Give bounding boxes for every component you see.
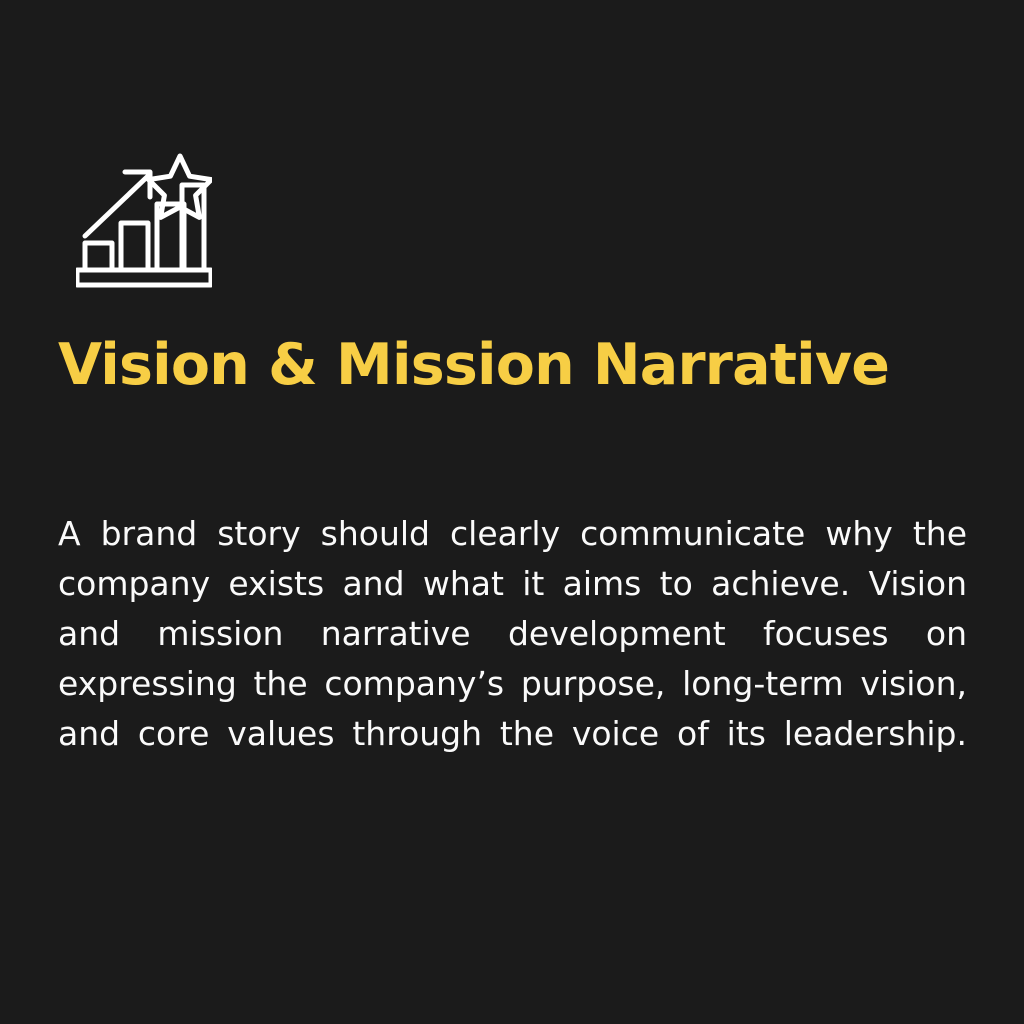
bar-1 [85, 243, 112, 270]
body-paragraph: A brand story should clearly communicate… [58, 509, 967, 809]
slide-card: Vision & Mission Narrative A brand story… [0, 0, 1024, 1024]
baseline-bar [77, 270, 211, 285]
bar-2 [121, 223, 148, 270]
trend-arrow [85, 172, 150, 236]
growth-bar-chart-star-icon [76, 150, 212, 290]
page-title: Vision & Mission Narrative [58, 331, 898, 399]
